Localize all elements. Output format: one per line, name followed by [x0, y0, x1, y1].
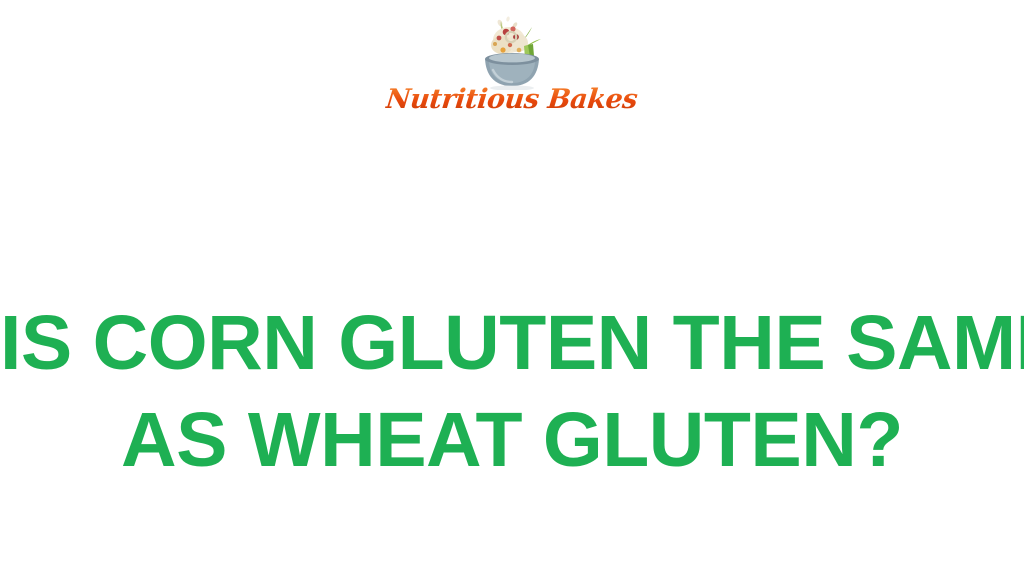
title-card: Nutritious Bakes IS CORN GLUTEN THE SAME…	[0, 0, 1024, 576]
page-title-line-2: AS WHEAT GLUTEN?	[0, 392, 1024, 489]
mortar-bowl-with-ingredients-icon	[475, 14, 549, 90]
brand-name: Nutritious Bakes	[385, 86, 639, 113]
page-title-line-1: IS CORN GLUTEN THE SAME	[0, 295, 1024, 392]
brand-logo: Nutritious Bakes	[0, 14, 1024, 113]
page-title: IS CORN GLUTEN THE SAME AS WHEAT GLUTEN?	[0, 295, 1024, 489]
